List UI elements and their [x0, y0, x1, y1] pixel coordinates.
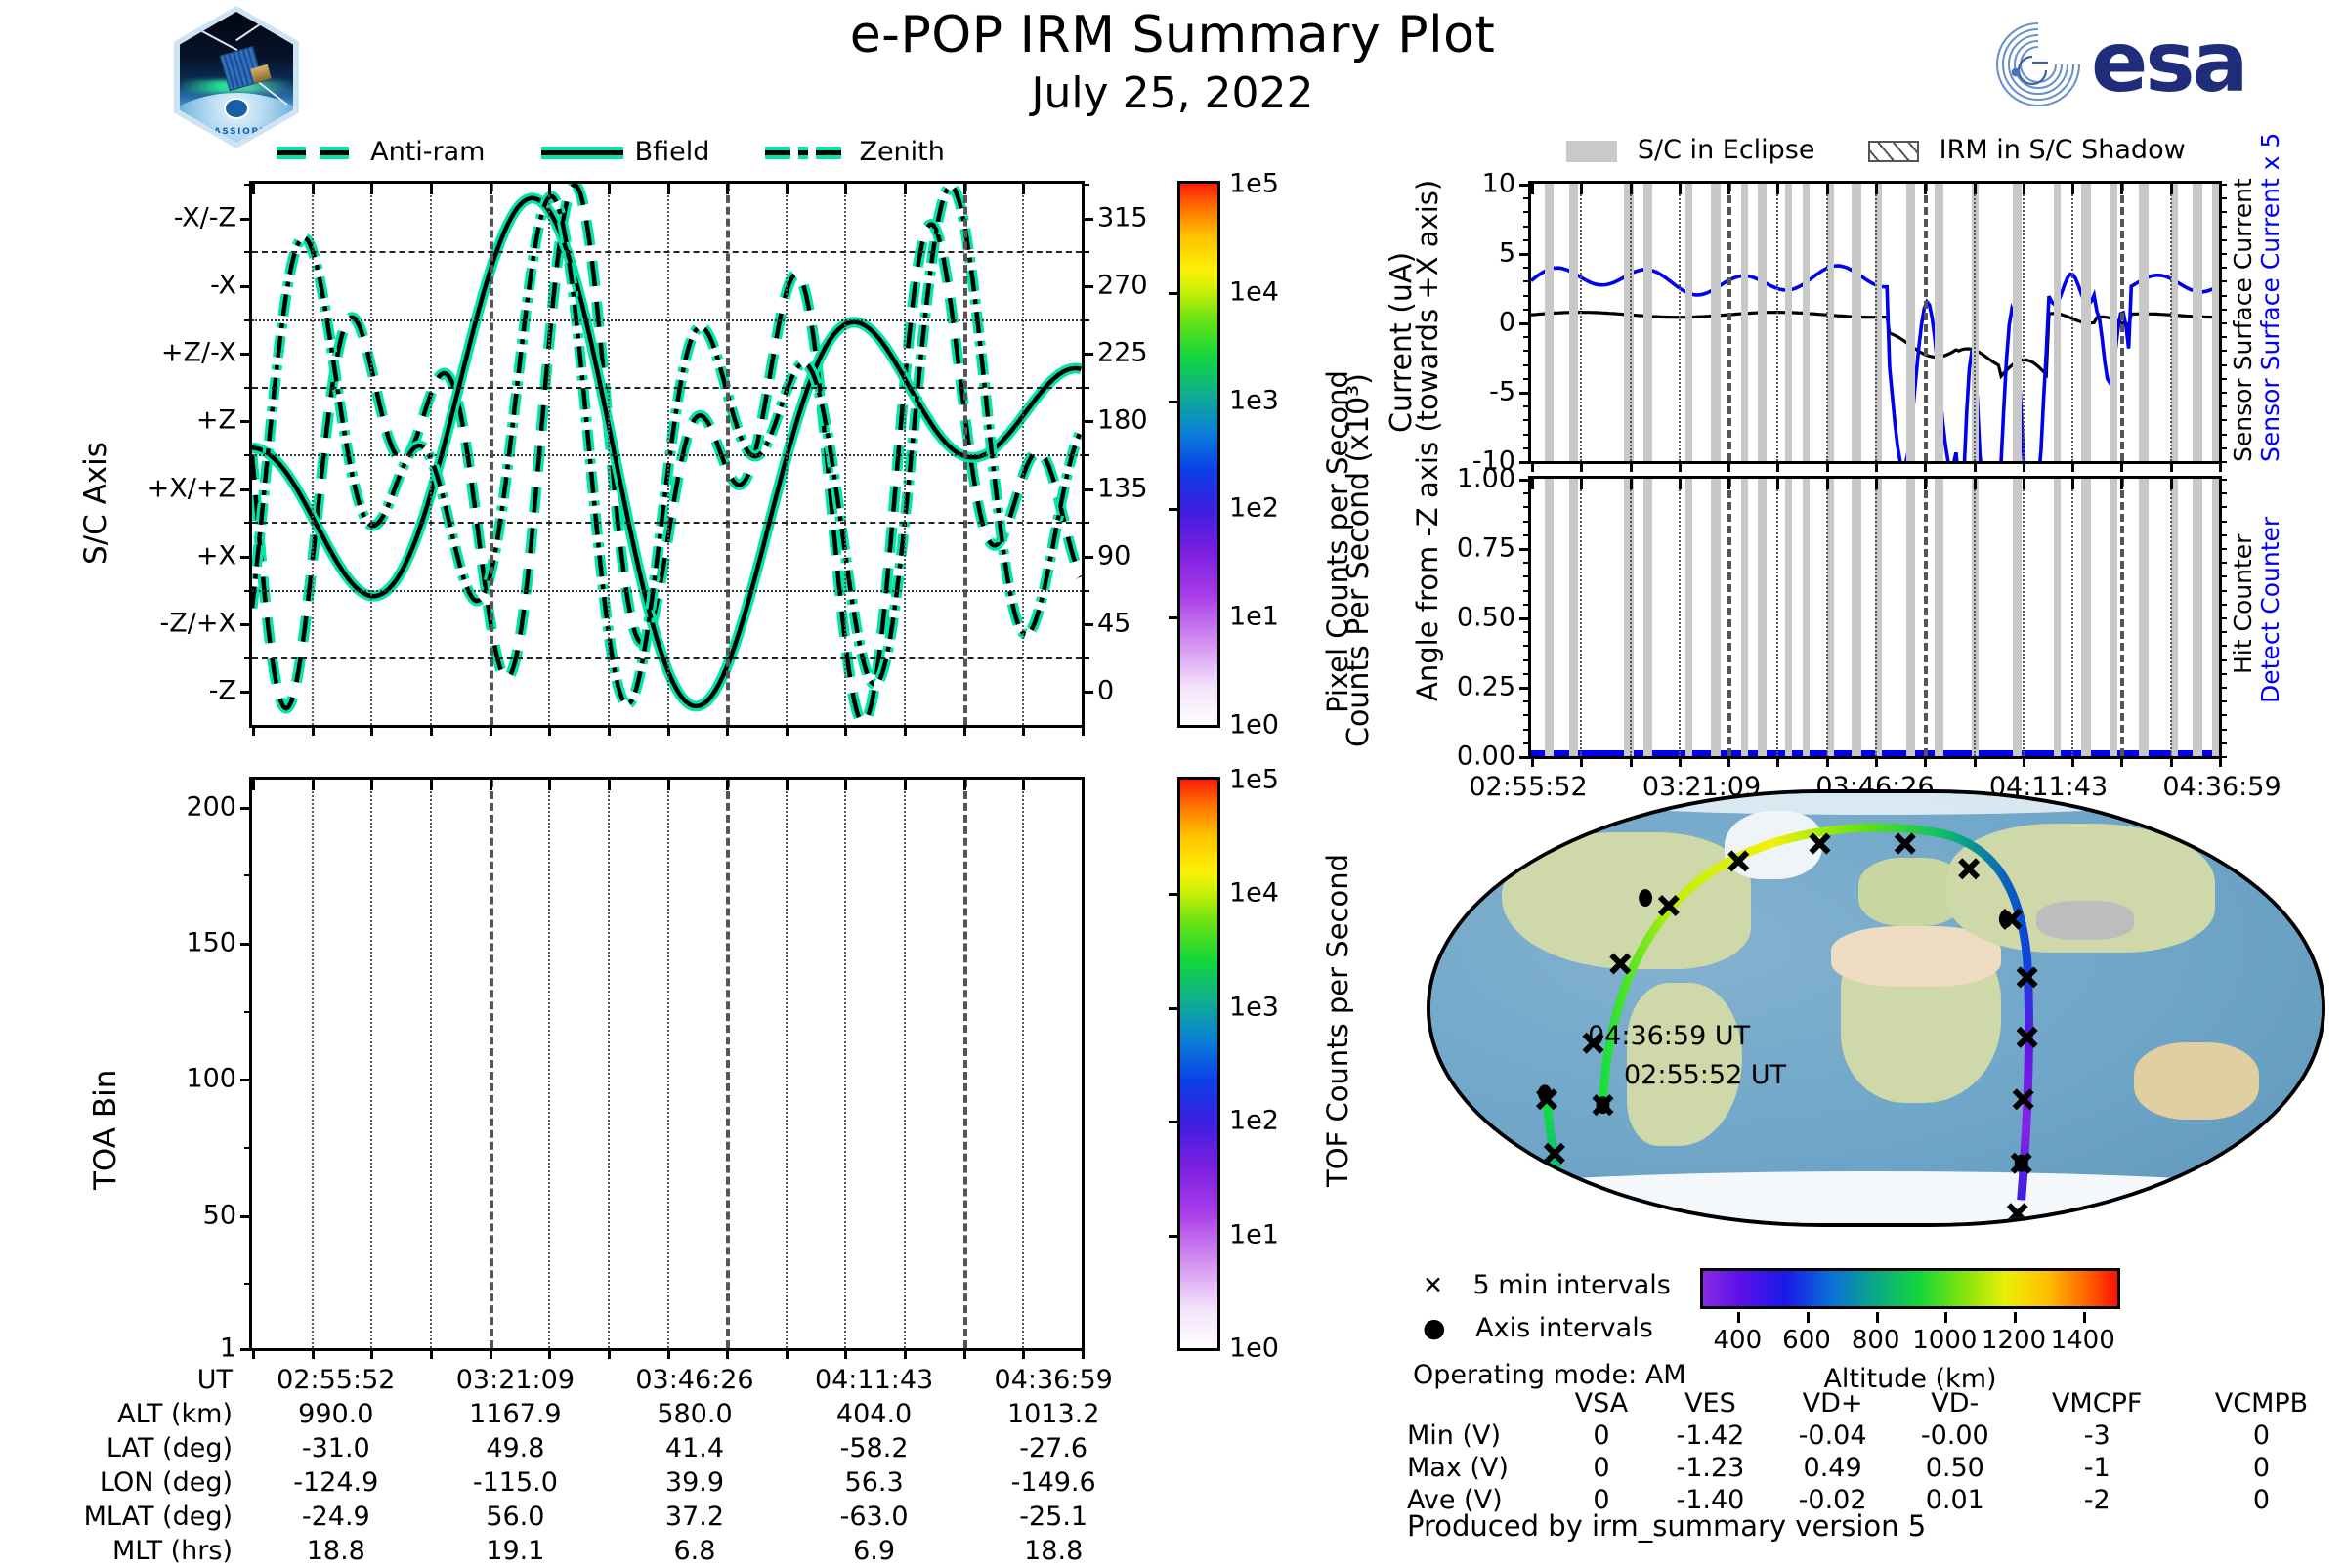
axis-tick-bottom	[1630, 756, 1633, 767]
ephemeris-cell: 04:36:59	[963, 1363, 1143, 1397]
axis-tick-right-minor	[2219, 492, 2227, 494]
voltage-column-header: VD+	[1771, 1387, 1894, 1420]
axis-tick-left-minor	[1523, 267, 1531, 269]
ephemeris-cell: 49.8	[426, 1431, 606, 1465]
ephemeris-cell: 990.0	[246, 1397, 426, 1431]
axis-tick-left-minor	[244, 1011, 252, 1013]
axis-tick-right-minor	[2219, 590, 2227, 592]
axis-tick-left-minor	[1523, 253, 1531, 255]
colorbar-tick	[1169, 893, 1180, 896]
current-right-label-blue: Sensor Surface Current x 5	[2256, 133, 2284, 462]
axis-tick-left-minor	[1523, 492, 1531, 494]
axis-tick-right-minor	[2219, 521, 2227, 523]
sc-axis-right-tick-label: 135	[1097, 473, 1148, 503]
axis-tick-top	[786, 780, 789, 790]
toa-ytick-label: 150	[186, 928, 236, 958]
axis-tick-right-minor	[1082, 319, 1089, 321]
grid-line-horizontal	[252, 454, 1082, 456]
grid-line-vertical	[1974, 479, 1976, 756]
axis-tick-left-minor	[1523, 184, 1531, 186]
axis-tick-right-minor	[2219, 309, 2227, 311]
altitude-tick	[1944, 1312, 1947, 1323]
axis-tick-bottom	[2071, 461, 2074, 472]
grid-line-vertical	[844, 780, 846, 1348]
axis-tick-left	[240, 488, 252, 491]
axis-interval-marker	[1999, 911, 2013, 928]
axis-tick-top	[370, 184, 373, 194]
counts-plot[interactable]: Counts Per Second (x10³) Detect Counter …	[1528, 476, 2222, 759]
current-ytick-label: 0	[1499, 308, 1515, 338]
ephemeris-cell: -63.0	[785, 1500, 964, 1534]
axis-tick-bottom	[1727, 756, 1730, 767]
legend-label: Zenith	[859, 137, 944, 167]
axis-tick-right-minor	[1082, 387, 1089, 389]
axis-tick-left-minor	[1523, 645, 1531, 647]
axis-tick-right-minor	[2219, 534, 2227, 536]
axis-tick-top	[1776, 184, 1779, 194]
ephemeris-cell: 404.0	[785, 1397, 964, 1431]
eclipse-band	[1547, 184, 1554, 461]
axis-tick-right-minor	[1082, 454, 1089, 456]
axis-tick-left-minor	[244, 807, 252, 809]
axis-tick-left-minor	[1523, 392, 1531, 394]
voltage-row-key: Min (V)	[1407, 1420, 1554, 1452]
counts-right-label-blue: Detect Counter	[2256, 517, 2284, 703]
axis-tick-right-minor	[2219, 295, 2227, 297]
axis-tick-left-minor	[244, 874, 252, 876]
eclipse-band	[2171, 479, 2178, 756]
grid-line-vertical	[548, 780, 550, 1348]
axis-tick-right	[1082, 420, 1093, 423]
axis-tick-bottom	[1727, 461, 1730, 472]
grid-line-vertical	[1826, 184, 1828, 461]
axis-tick-right-minor	[2219, 617, 2227, 619]
colorbar-tick-label: 1e4	[1229, 878, 1279, 909]
altitude-tick	[2083, 1312, 2086, 1323]
axis-tick-right-minor	[2219, 280, 2227, 282]
table-row: MLAT (deg)-24.956.037.2-63.0-25.1	[59, 1500, 1143, 1534]
legend-item-zenith: Zenith	[765, 137, 944, 167]
axis-tick-left-minor	[1523, 534, 1531, 536]
colorbar-tick-label: 1e0	[1229, 1334, 1279, 1364]
axis-tick-bottom	[1875, 756, 1878, 767]
colorbar-tick	[1169, 292, 1180, 295]
colorbar-tick-label: 1e1	[1229, 602, 1279, 632]
ephemeris-cell: 03:46:26	[605, 1363, 785, 1397]
axis-tick-bottom	[667, 725, 670, 736]
eclipse-band	[1803, 184, 1810, 461]
axis-tick-right-minor	[2219, 447, 2227, 449]
sc-axis-ytick-label: +X	[196, 540, 236, 571]
five-min-marker	[1897, 835, 1914, 853]
grid-line-vertical	[1727, 479, 1731, 756]
axis-tick-bottom	[963, 725, 966, 736]
axis-tick-bottom	[2170, 756, 2173, 767]
grid-line-vertical	[726, 780, 730, 1348]
axis-tick-left-minor	[1523, 226, 1531, 228]
axis-tick-right-minor	[2219, 392, 2227, 394]
current-ytick-label: -5	[1489, 377, 1515, 407]
eclipse-band	[2015, 184, 2022, 461]
axis-tick-top	[548, 780, 551, 790]
current-ylabel: Current (uA)	[1385, 252, 1419, 433]
ephemeris-row-key: MLAT (deg)	[59, 1500, 246, 1534]
axis-tick-right	[1082, 623, 1093, 626]
axis-tick-right-minor	[2219, 562, 2227, 564]
dashed-line-swatch	[277, 147, 359, 159]
eclipse-band	[1760, 479, 1767, 756]
axis-tick-left-minor	[1523, 364, 1531, 366]
axis-tick-bottom	[2120, 756, 2123, 767]
pixel-counts-colorbar: 1e51e41e31e21e11e0	[1177, 181, 1220, 728]
altitude-tick-label: 600	[1782, 1326, 1831, 1355]
axis-tick-left-minor	[1523, 687, 1531, 689]
axis-tick-left-minor	[1523, 742, 1531, 744]
grid-line-vertical	[1875, 479, 1877, 756]
voltage-summary-table: VSAVESVD+VD-VMCPFVCMPBMin (V)0-1.42-0.04…	[1407, 1387, 2345, 1516]
eclipse-band	[1855, 184, 1861, 461]
esa-logo: esa	[1985, 8, 2308, 123]
axis-tick-top	[608, 184, 611, 194]
grid-line-vertical	[2023, 479, 2025, 756]
axis-tick-left-minor	[244, 251, 252, 253]
colorbar-tick-label: 1e5	[1229, 169, 1279, 199]
grid-line-vertical	[786, 780, 788, 1348]
axis-tick-right-minor	[2219, 253, 2227, 255]
altitude-tick-label: 1000	[1912, 1326, 1977, 1355]
axis-tick-left	[240, 218, 252, 221]
axis-tick-left-minor	[1523, 419, 1531, 421]
legend-label: Bfield	[635, 137, 710, 167]
axis-tick-bottom	[1679, 756, 1682, 767]
axis-tick-right	[1082, 218, 1093, 221]
toa-ytick-label: 100	[186, 1064, 236, 1094]
axis-tick-top	[844, 780, 847, 790]
axis-tick-right-minor	[2219, 729, 2227, 731]
colorbar-tick	[1169, 1121, 1180, 1123]
world-globe	[1427, 789, 2325, 1227]
colorbar-tick-label: 1e1	[1229, 1219, 1279, 1250]
sc-axis-plot[interactable]: S/C Axis Angle from -Z axis (towards +X …	[249, 181, 1085, 728]
eclipse-band	[2142, 184, 2149, 461]
esa-logo-text: esa	[2091, 14, 2246, 111]
solid-line-swatch	[541, 147, 623, 159]
axis-tick-left-minor	[1523, 280, 1531, 282]
axis-tick-right-minor	[2219, 336, 2227, 338]
axis-tick-bottom	[252, 1348, 255, 1359]
grid-line-vertical	[1826, 479, 1828, 756]
axis-tick-top	[1022, 184, 1025, 194]
axis-tick-bottom	[1022, 1348, 1025, 1359]
axis-tick-top	[2023, 184, 2025, 194]
axis-tick-left-minor	[1523, 548, 1531, 550]
axis-tick-left-minor	[244, 454, 252, 456]
ephemeris-cell: 39.9	[605, 1465, 785, 1500]
axis-tick-right-minor	[1082, 522, 1089, 524]
axis-tick-top	[252, 780, 255, 790]
eclipse-band	[1827, 184, 1834, 461]
counts-ytick-label: 0.50	[1457, 603, 1515, 633]
sc-axis-ytick-label: +Z/-X	[161, 338, 236, 368]
axis-tick-right-minor	[2219, 631, 2227, 633]
axis-tick-left-minor	[1523, 521, 1531, 523]
eclipse-band	[1714, 184, 1721, 461]
sc-axis-right-tick-label: 180	[1097, 405, 1148, 436]
axis-tick-left-minor	[1523, 461, 1531, 463]
current-ytick-label: 10	[1482, 169, 1515, 199]
axis-tick-right-minor	[2219, 673, 2227, 675]
ephemeris-cell: 56.0	[426, 1500, 606, 1534]
voltage-cell: 0	[2178, 1452, 2345, 1484]
voltage-column-header: VD-	[1894, 1387, 2016, 1420]
eclipse-legend: S/C in Eclipse IRM in S/C Shadow	[1524, 135, 2228, 166]
sc-axis-right-tick-label: 90	[1097, 540, 1130, 571]
cassiope-mission-logo: CASSIOPE	[174, 6, 299, 148]
altitude-tick-label: 1200	[1982, 1326, 2046, 1355]
table-row: LAT (deg)-31.049.841.4-58.2-27.6	[59, 1431, 1143, 1465]
ground-track-map[interactable]: 04:36:59 UT 02:55:52 UT	[1407, 782, 2345, 1241]
grid-line-vertical	[370, 780, 372, 1348]
eclipse-band	[2110, 184, 2117, 461]
counts-ytick-label: 0.00	[1457, 742, 1515, 772]
axis-tick-left	[240, 420, 252, 423]
ephemeris-cell: 580.0	[605, 1397, 785, 1431]
ephemeris-cell: -31.0	[246, 1431, 426, 1465]
axis-tick-bottom	[1022, 725, 1025, 736]
voltage-column-header: VSA	[1554, 1387, 1649, 1420]
grid-line-vertical	[1630, 184, 1632, 461]
grid-line-vertical	[1630, 479, 1632, 756]
axis-tick-right-minor	[2219, 239, 2227, 241]
axis-tick-top	[2219, 184, 2222, 194]
eclipse-band	[2142, 479, 2149, 756]
axis-tick-top	[1875, 479, 1878, 489]
sc-axis-ytick-label: +Z	[196, 405, 236, 436]
axis-tick-bottom	[786, 725, 789, 736]
legend-item-irm-shadow: IRM in S/C Shadow	[1868, 135, 2186, 165]
axis-tick-left-minor	[1523, 197, 1531, 199]
voltage-row-key: Max (V)	[1407, 1452, 1554, 1484]
table-row: ALT (km)990.01167.9580.0404.01013.2	[59, 1397, 1143, 1431]
axis-tick-top	[1531, 184, 1534, 194]
axis-tick-bottom	[1924, 756, 1927, 767]
axis-tick-top	[844, 184, 847, 194]
five-min-marker	[1611, 955, 1629, 973]
legend-label: Axis intervals	[1475, 1313, 1653, 1343]
ephemeris-row-key: ALT (km)	[59, 1397, 246, 1431]
axis-tick-bottom	[1531, 756, 1534, 767]
axis-tick-bottom	[430, 1348, 433, 1359]
grid-line-vertical	[2071, 184, 2073, 461]
axis-tick-left-minor	[1523, 447, 1531, 449]
toa-bin-plot[interactable]: TOA Bin 200150100501	[249, 777, 1085, 1351]
axis-tick-right-minor	[2219, 267, 2227, 269]
five-min-marker	[1812, 835, 1829, 853]
colorbar-tick-label: 1e3	[1229, 385, 1279, 415]
axis-tick-left-minor	[1523, 590, 1531, 592]
grid-line-vertical	[1679, 184, 1681, 461]
axis-tick-left	[240, 285, 252, 288]
axis-tick-top	[548, 184, 551, 194]
grid-line-vertical	[1022, 780, 1024, 1348]
current-plot[interactable]: Current (uA) Sensor Surface Current x 5 …	[1528, 181, 2222, 464]
axis-tick-bottom	[1974, 756, 1977, 767]
altitude-tick-label: 1400	[2051, 1326, 2115, 1355]
axis-tick-right	[1082, 285, 1093, 288]
axis-interval-marker	[1538, 1084, 1552, 1102]
axis-tick-top	[904, 780, 907, 790]
axis-tick-bottom	[2170, 461, 2173, 472]
table-row: Max (V)0-1.230.490.50-10	[1407, 1452, 2345, 1484]
colorbar-tick	[1169, 1007, 1180, 1010]
eclipse-band	[1855, 479, 1861, 756]
axis-tick-right-minor	[2219, 659, 2227, 661]
axis-tick-right	[1082, 488, 1093, 491]
legend-axis-intervals: ● Axis intervals	[1423, 1313, 1653, 1343]
axis-tick-top	[1630, 479, 1633, 489]
axis-tick-bottom	[1875, 461, 1878, 472]
ephemeris-table: UT02:55:5203:21:0903:46:2604:11:4304:36:…	[59, 1363, 1143, 1568]
axis-tick-left-minor	[244, 657, 252, 659]
tof-counts-colorbar: 1e51e41e31e21e11e0	[1177, 777, 1220, 1351]
legend-label: IRM in S/C Shadow	[1940, 135, 2186, 165]
eclipse-band	[1685, 184, 1692, 461]
axis-tick-bottom	[1580, 461, 1583, 472]
tof-counts-colorbar-label: TOF Counts per Second	[1321, 854, 1354, 1187]
produced-by-footer: Produced by irm_summary version 5	[1407, 1509, 1926, 1543]
axis-tick-top	[370, 780, 373, 790]
axis-tick-top	[1826, 184, 1829, 194]
sc-axis-right-tick-label: 45	[1097, 609, 1130, 639]
eclipse-band	[1785, 479, 1792, 756]
voltage-corner-cell	[1407, 1387, 1554, 1420]
toa-ytick-label: 200	[186, 791, 236, 822]
grid-line-vertical	[667, 780, 669, 1348]
axis-tick-left-minor	[1523, 631, 1531, 633]
grid-line-vertical	[904, 780, 906, 1348]
axis-tick-left-minor	[1523, 211, 1531, 213]
eclipse-band	[1571, 184, 1578, 461]
grid-line-vertical	[1776, 184, 1778, 461]
grid-line-horizontal	[252, 522, 1082, 524]
axis-tick-right-minor	[2219, 506, 2227, 508]
colorbar-tick	[1169, 1235, 1180, 1238]
colorbar-tick	[1169, 616, 1180, 619]
ephemeris-cell: -24.9	[246, 1500, 426, 1534]
axis-tick-top	[1924, 479, 1927, 489]
legend-item-anti-ram: Anti-ram	[277, 137, 485, 167]
sc-axis-right-tick-label: 225	[1097, 338, 1148, 368]
axis-tick-right-minor	[2219, 322, 2227, 324]
ephemeris-cell: -27.6	[963, 1431, 1143, 1465]
ephemeris-cell: 04:11:43	[785, 1363, 964, 1397]
table-row: Min (V)0-1.42-0.04-0.00-30	[1407, 1420, 2345, 1452]
axis-tick-left-minor	[1523, 714, 1531, 716]
axis-tick-left-minor	[1523, 479, 1531, 481]
axis-tick-top	[1727, 184, 1730, 194]
grid-line-horizontal	[252, 319, 1082, 321]
axis-tick-left-minor	[244, 184, 252, 186]
axis-tick-left-minor	[244, 522, 252, 524]
axis-tick-top	[2023, 479, 2025, 489]
axis-tick-bottom	[904, 725, 907, 736]
axis-tick-bottom	[2219, 461, 2222, 472]
axis-tick-right-minor	[2219, 575, 2227, 577]
grid-line-vertical	[430, 780, 432, 1348]
counts-ylabel: Counts Per Second (x10³)	[1343, 493, 1375, 747]
counts-ytick-label: 1.00	[1457, 464, 1515, 494]
ephemeris-cell: -58.2	[785, 1431, 964, 1465]
axis-tick-top	[312, 184, 315, 194]
eclipse-band	[2110, 479, 2117, 756]
axis-tick-bottom	[608, 725, 611, 736]
axis-tick-left-minor	[1523, 434, 1531, 436]
ephemeris-cell: 1013.2	[963, 1397, 1143, 1431]
grid-line-vertical	[1875, 184, 1877, 461]
ephemeris-cell: 37.2	[605, 1500, 785, 1534]
eclipse-band	[1937, 479, 1943, 756]
eclipse-band	[1908, 479, 1915, 756]
sc-axis-right-tick-label: 0	[1097, 676, 1114, 706]
ephemeris-cell: 41.4	[605, 1431, 785, 1465]
axis-tick-top	[312, 780, 315, 790]
table-row: LON (deg)-124.9-115.039.956.3-149.6	[59, 1465, 1143, 1500]
grid-line-vertical	[490, 780, 493, 1348]
axis-tick-top	[1531, 479, 1534, 489]
axis-tick-top	[430, 184, 433, 194]
eclipse-band	[2212, 184, 2219, 461]
five-min-marker	[2009, 1205, 2026, 1222]
axis-tick-left	[240, 691, 252, 694]
grid-line-vertical	[1679, 479, 1681, 756]
counts-ytick-label: 0.25	[1457, 672, 1515, 702]
axis-tick-top	[726, 184, 729, 194]
axis-tick-top	[1580, 184, 1583, 194]
operating-mode-label: Operating mode: AM	[1413, 1360, 1686, 1390]
map-end-time-label: 04:36:59 UT	[1588, 1021, 1750, 1051]
eclipse-band	[1908, 184, 1915, 461]
voltage-cell: -0.04	[1771, 1420, 1894, 1452]
axis-tick-bottom	[1826, 461, 1829, 472]
axis-tick-top	[1580, 479, 1583, 489]
axis-tick-left-minor	[244, 319, 252, 321]
eclipse-band	[2054, 184, 2061, 461]
sc-axis-ylabel: S/C Axis	[78, 442, 113, 565]
axis-tick-left-minor	[1523, 239, 1531, 241]
sc-axis-ytick-label: +X/+Z	[148, 473, 236, 503]
counts-right-label-black: Hit Counter	[2229, 534, 2257, 674]
axis-tick-bottom	[844, 1348, 847, 1359]
axis-tick-top	[490, 780, 492, 790]
ephemeris-cell: -149.6	[963, 1465, 1143, 1500]
axis-tick-right-minor	[2219, 434, 2227, 436]
altitude-tick	[1737, 1312, 1740, 1323]
axis-tick-top	[1082, 184, 1085, 194]
eclipse-band	[1741, 184, 1748, 461]
axis-interval-marker	[1597, 1096, 1610, 1114]
legend-label: 5 min intervals	[1473, 1270, 1671, 1300]
grid-line-vertical	[608, 780, 610, 1348]
axis-tick-left-minor	[1523, 378, 1531, 380]
axis-tick-right	[1082, 556, 1093, 559]
axis-tick-left-minor	[1523, 604, 1531, 606]
axis-tick-bottom	[667, 1348, 670, 1359]
eclipse-band	[1714, 479, 1721, 756]
voltage-column-header: VES	[1649, 1387, 1771, 1420]
eclipse-band	[1645, 479, 1652, 756]
axis-tick-bottom	[726, 725, 729, 736]
axis-tick-left	[240, 353, 252, 356]
